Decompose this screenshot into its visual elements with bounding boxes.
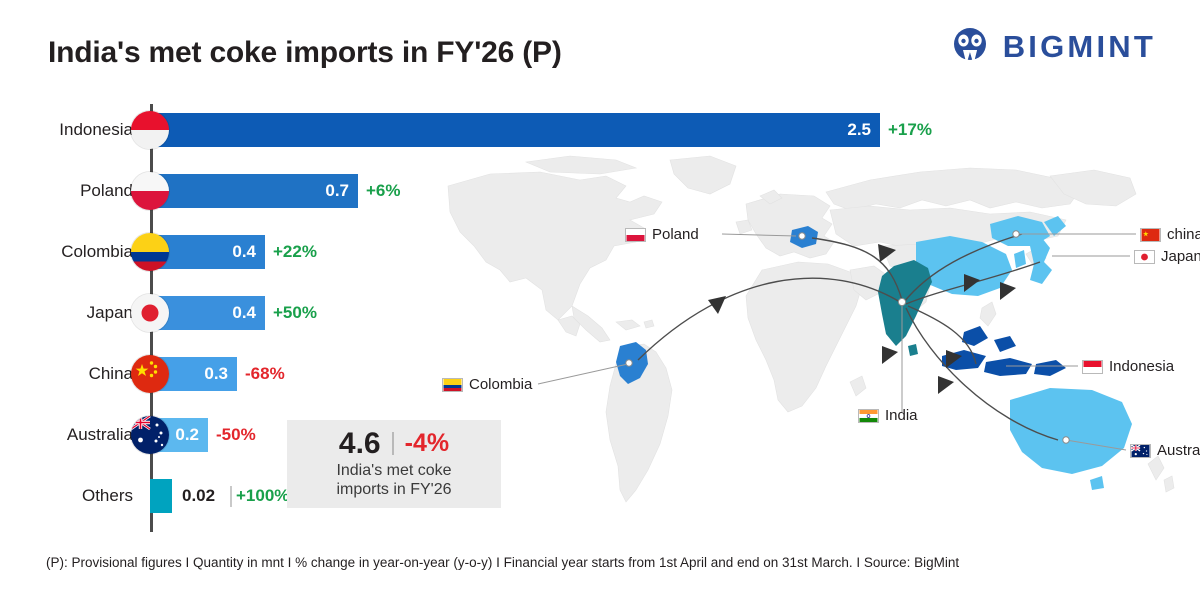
map-label-text: India xyxy=(885,408,918,423)
map-flag-icon-australia xyxy=(1130,444,1151,458)
world-map: PolandColombiachinaJapanIndonesiaIndia A… xyxy=(430,150,1200,530)
country-tasmania xyxy=(1090,476,1104,490)
country-indonesia-2 xyxy=(984,358,1032,376)
map-label-text: Japan xyxy=(1161,249,1200,264)
map-flag-icon-indonesia xyxy=(1082,360,1103,374)
arrowhead-australia-2 xyxy=(882,346,898,364)
bar-change-indonesia: +17% xyxy=(888,110,932,150)
map-label-text: Poland xyxy=(652,227,699,242)
bar-change-china: -68% xyxy=(245,354,285,394)
map-flag-icon-india xyxy=(858,409,879,423)
bar-label-china: China xyxy=(0,354,133,394)
map-flag-icon-colombia xyxy=(442,378,463,392)
country-australia xyxy=(1010,388,1132,474)
flag-icon-japan xyxy=(131,294,169,332)
map-label-indonesia: Indonesia xyxy=(1082,359,1174,374)
bar-change-australia: -50% xyxy=(216,415,256,455)
map-flag-icon-japan xyxy=(1134,250,1155,264)
bar-value-colombia: 0.4 xyxy=(232,242,265,262)
summary-total: 4.6 xyxy=(339,429,381,459)
bar-value-china: 0.3 xyxy=(204,364,237,384)
country-srilanka xyxy=(908,344,918,356)
bar-others xyxy=(150,479,172,513)
bar-change-others: +100% xyxy=(236,476,289,516)
bar-value-others: 0.02 xyxy=(182,476,215,516)
flag-icon-china xyxy=(131,355,169,393)
dot-poland xyxy=(799,233,805,239)
map-label-colombia: Colombia xyxy=(442,377,532,392)
bar-label-poland: Poland xyxy=(0,171,133,211)
country-korea xyxy=(1014,250,1026,268)
map-label-text: china xyxy=(1167,227,1200,242)
bar-label-japan: Japan xyxy=(0,293,133,333)
dot-india xyxy=(898,298,905,305)
summary-divider xyxy=(392,432,394,455)
bar-row: Indonesia2.5+17% xyxy=(0,110,520,150)
value-change-divider xyxy=(230,486,232,507)
flag-icon-indonesia xyxy=(131,111,169,149)
bar-change-colombia: +22% xyxy=(273,232,317,272)
flag-icon-poland xyxy=(131,172,169,210)
country-indonesia-5 xyxy=(994,336,1016,352)
map-flag-icon-poland xyxy=(625,228,646,242)
bar-label-others: Others xyxy=(0,476,133,516)
flag-icon-colombia xyxy=(131,233,169,271)
bar-value-poland: 0.7 xyxy=(325,181,358,201)
country-indonesia-3 xyxy=(1034,360,1066,376)
map-flag-icon-china xyxy=(1140,228,1161,242)
map-label-text: Indonesia xyxy=(1109,359,1174,374)
bigmint-logo: BIGMINT xyxy=(950,26,1156,66)
arrowhead-japan xyxy=(1000,282,1016,300)
map-label-text: Colombia xyxy=(469,377,532,392)
footnote: (P): Provisional figures I Quantity in m… xyxy=(46,555,959,570)
bar-change-japan: +50% xyxy=(273,293,317,333)
bar-value-indonesia: 2.5 xyxy=(847,120,880,140)
bigmint-logo-text: BIGMINT xyxy=(1003,31,1156,62)
bar-value-australia: 0.2 xyxy=(175,425,208,445)
bigmint-logo-icon xyxy=(950,26,990,66)
map-label-text: Australia xyxy=(1157,443,1200,458)
map-label-china: china xyxy=(1140,227,1200,242)
bar-label-indonesia: Indonesia xyxy=(0,110,133,150)
bar-label-australia: Australia xyxy=(0,415,133,455)
flag-icon-australia xyxy=(131,416,169,454)
map-label-poland: Poland xyxy=(625,227,699,242)
infographic-canvas: India's met coke imports in FY'26 (P) BI… xyxy=(0,0,1200,600)
arrowhead-australia xyxy=(938,376,954,394)
bar-indonesia: 2.5 xyxy=(150,113,880,147)
map-label-india: India xyxy=(858,408,918,423)
bar-change-poland: +6% xyxy=(366,171,401,211)
map-label-australia: Australia xyxy=(1130,443,1200,458)
map-label-japan: Japan xyxy=(1134,249,1200,264)
bar-value-japan: 0.4 xyxy=(232,303,265,323)
dot-china xyxy=(1013,231,1019,237)
dot-colombia xyxy=(626,360,632,366)
bar-label-colombia: Colombia xyxy=(0,232,133,272)
bar-poland: 0.7 xyxy=(150,174,358,208)
world-map-svg xyxy=(430,150,1200,530)
dot-australia xyxy=(1063,437,1069,443)
